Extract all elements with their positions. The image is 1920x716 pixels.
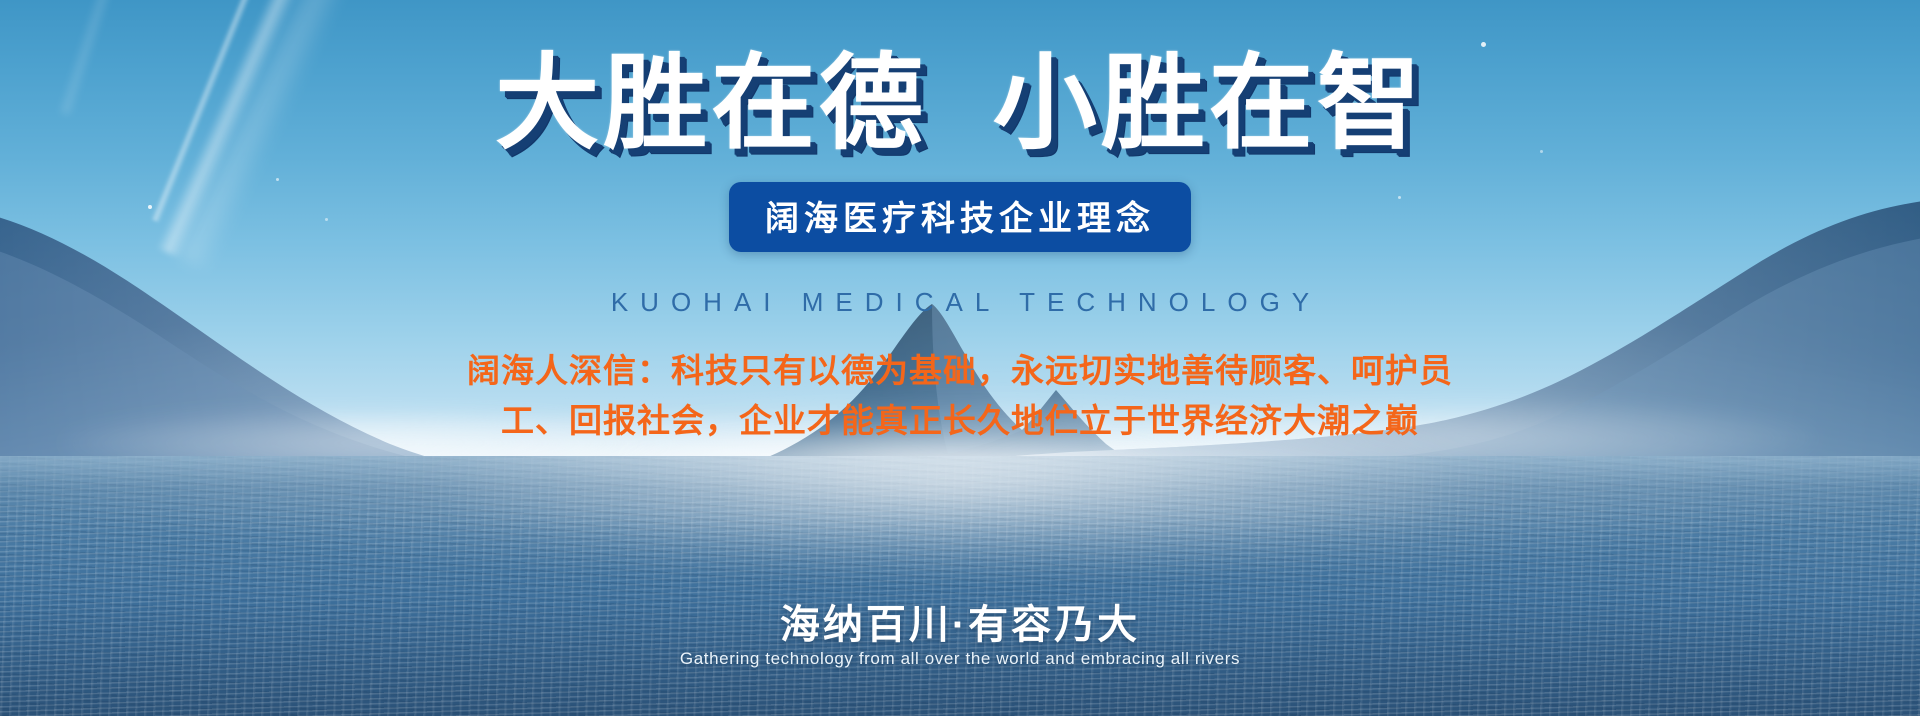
bottom-slogan: 海纳百川·有容乃大 <box>0 592 1920 650</box>
philosophy-line-2: 工、回报社会，企业才能真正长久地伫立于世界经济大潮之巅 <box>0 396 1920 446</box>
concept-badge: 阔海医疗科技企业理念 <box>729 182 1191 252</box>
philosophy-paragraph: 阔海人深信：科技只有以德为基础，永远切实地善待顾客、呵护员 工、回报社会，企业才… <box>0 346 1920 446</box>
concept-badge-wrap: 阔海医疗科技企业理念 <box>0 182 1920 252</box>
english-subtitle: KUOHAI MEDICAL TECHNOLOGY <box>0 287 1920 318</box>
philosophy-line-1: 阔海人深信：科技只有以德为基础，永远切实地善待顾客、呵护员 <box>0 346 1920 396</box>
hero-banner: 大胜在德 小胜在智 阔海医疗科技企业理念 KUOHAI MEDICAL TECH… <box>0 0 1920 716</box>
bottom-slogan-english: Gathering technology from all over the w… <box>0 649 1920 669</box>
banner-content: 大胜在德 小胜在智 阔海医疗科技企业理念 KUOHAI MEDICAL TECH… <box>0 0 1920 716</box>
page-title: 大胜在德 小胜在智 <box>0 48 1920 160</box>
